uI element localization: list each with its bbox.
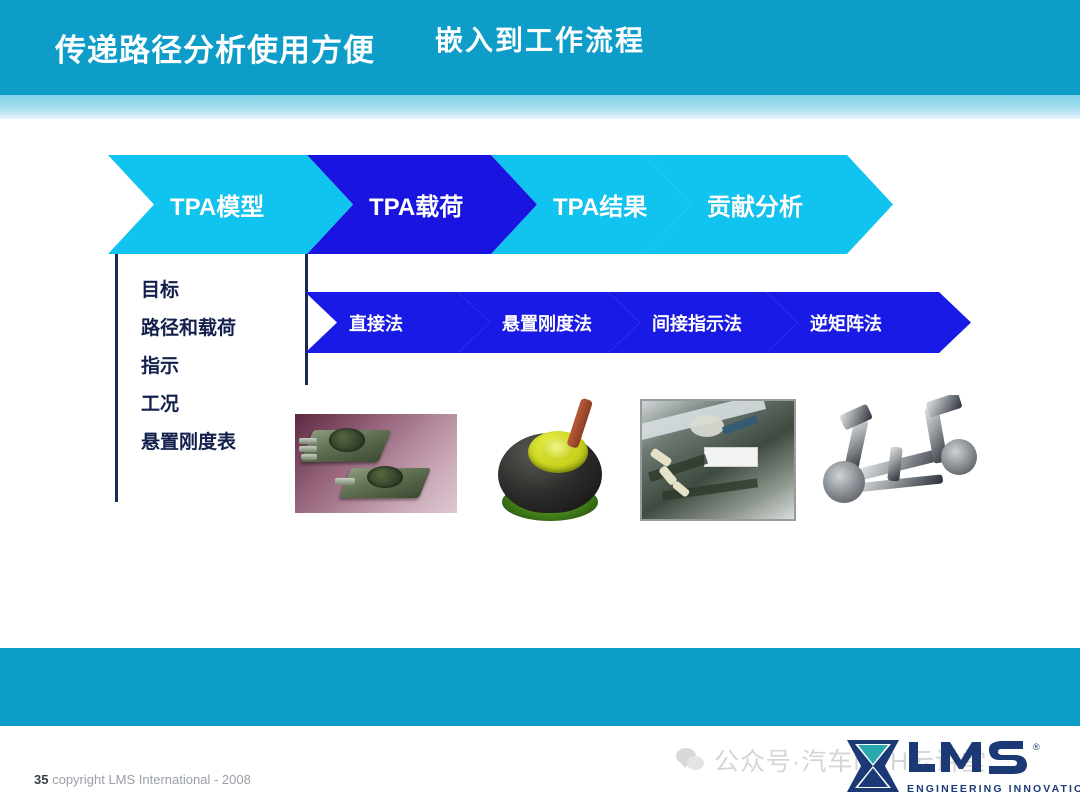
slide-canvas: 传递路径分析使用方便 TPA模型TPA载荷TPA结果贡献分析 目标路径和载荷指示… bbox=[0, 0, 1080, 811]
flow-step-top-1-label: TPA模型 bbox=[108, 187, 264, 222]
engine-mount-photo bbox=[480, 395, 620, 530]
footer-copyright: 35 copyright LMS International - 2008 bbox=[34, 772, 251, 787]
lms-tagline: ENGINEERING INNOVATION bbox=[907, 783, 1080, 795]
header-underline-strip bbox=[0, 95, 1080, 119]
force-sensor-photo bbox=[295, 414, 457, 513]
lms-hourglass-icon bbox=[845, 738, 901, 794]
bottom-banner-text: 嵌入到工作流程 bbox=[0, 0, 1080, 78]
tpa-model-input-list: 目标路径和载荷指示工况悬置刚度表 bbox=[141, 272, 321, 462]
flow-step-bottom-1-label: 直接法 bbox=[305, 310, 403, 336]
lms-logo: ® ENGINEERING INNOVATION bbox=[845, 738, 1057, 800]
list-item: 工况 bbox=[141, 386, 321, 424]
wechat-icon bbox=[676, 748, 706, 772]
list-item: 指示 bbox=[141, 348, 321, 386]
copyright-text: copyright LMS International - 2008 bbox=[52, 772, 251, 787]
flow-step-bottom-1[interactable]: 直接法 bbox=[305, 292, 490, 353]
svg-text:®: ® bbox=[1033, 742, 1040, 752]
bottom-banner bbox=[0, 648, 1080, 726]
suspension-subframe-photo bbox=[815, 395, 985, 530]
lms-wordmark: ® bbox=[905, 738, 1057, 782]
photo-strip bbox=[295, 395, 985, 530]
page-number: 35 bbox=[34, 772, 48, 787]
engine-bay-photo bbox=[640, 399, 796, 521]
flow-step-top-1[interactable]: TPA模型 bbox=[108, 155, 353, 254]
list-item: 悬置刚度表 bbox=[141, 424, 321, 462]
tpa-method-flow-bottom: 直接法悬置刚度法间接指示法逆矩阵法 bbox=[305, 292, 1035, 353]
list-item: 目标 bbox=[141, 272, 321, 310]
tpa-process-flow-top: TPA模型TPA载荷TPA结果贡献分析 bbox=[108, 155, 950, 254]
list-item: 路径和载荷 bbox=[141, 310, 321, 348]
connector-line-left bbox=[115, 252, 118, 502]
